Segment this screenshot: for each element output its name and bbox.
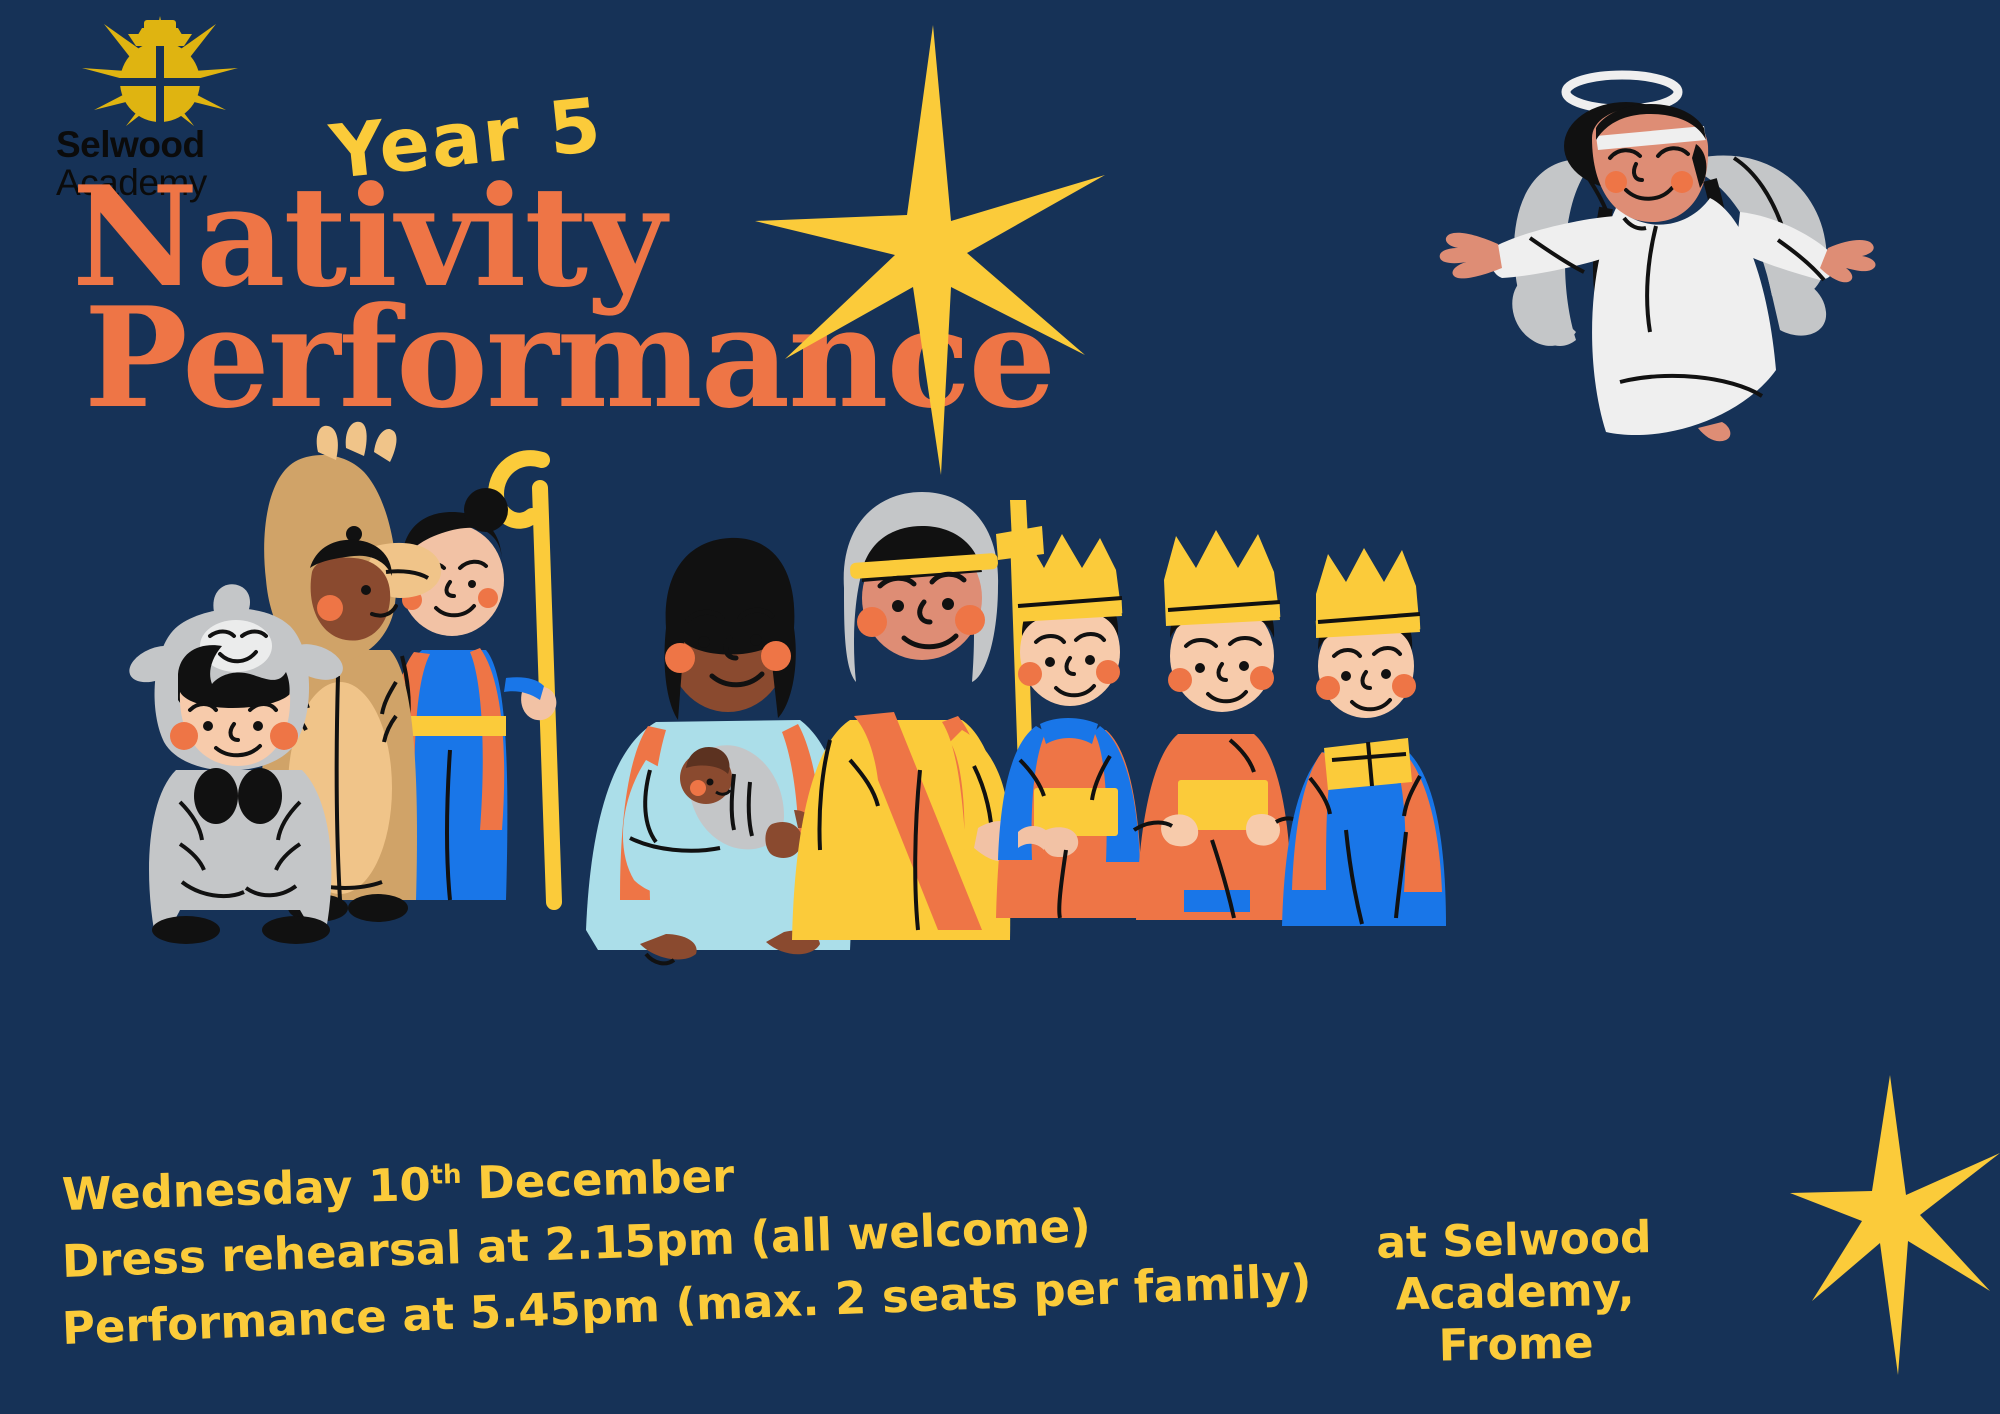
date-suffix: December <box>461 1149 735 1210</box>
star-small-icon <box>1790 1075 2000 1375</box>
date-prefix: Wednesday 10 <box>61 1158 431 1221</box>
event-details: Wednesday 10th December Dress rehearsal … <box>62 1168 1142 1369</box>
venue-line-1: at Selwood Academy, <box>1273 1210 1755 1324</box>
joseph-figure <box>792 492 1014 940</box>
venue-line-2: Frome <box>1276 1314 1757 1376</box>
star-large-icon <box>755 25 1105 475</box>
king-blue-figure <box>1282 548 1446 926</box>
angel-figure <box>1410 40 1840 450</box>
king-orange-figure <box>1134 530 1302 920</box>
nativity-poster: Selwood Academy Year 5 Nativity Performa… <box>0 0 2000 1414</box>
date-ordinal: th <box>430 1160 462 1191</box>
king-with-staff-figure <box>996 500 1142 918</box>
sunburst-globe-icon <box>80 14 240 134</box>
nativity-characters-group <box>150 430 1710 1190</box>
venue-block: at Selwood Academy, Frome <box>1273 1210 1756 1376</box>
